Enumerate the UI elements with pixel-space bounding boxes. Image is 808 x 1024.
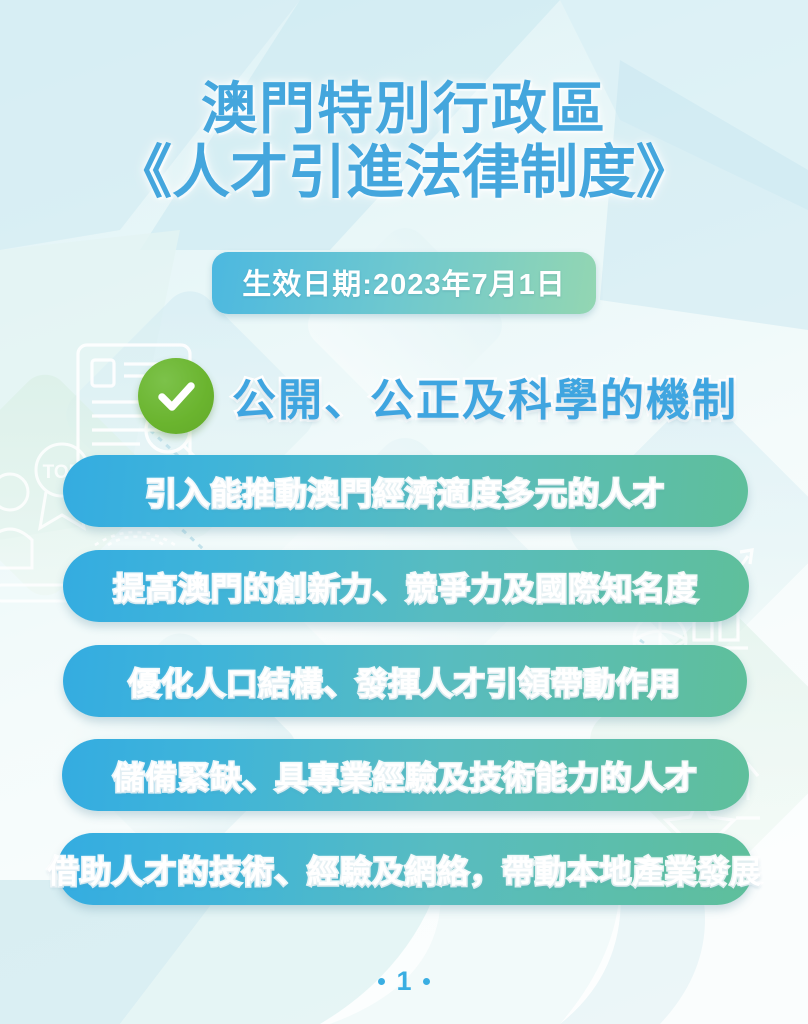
point-pill-label: 儲備緊缺、具專業經驗及技術能力的人才 [113,753,698,798]
point-pill-label: 引入能推動澳門經濟適度多元的人才 [146,469,666,514]
title-line-1: 澳門特別行政區 [0,78,808,141]
point-pill: 儲備緊缺、具專業經驗及技術能力的人才 [62,739,749,811]
section-heading: 公開、公正及科學的機制 [138,358,738,434]
title-line-2: 《人才引進法律制度》 [0,141,808,206]
point-pill: 借助人才的技術、經驗及網絡，帶動本地產業發展 [57,833,753,905]
footer-dot-left-icon [378,978,385,985]
footer-dot-right-icon [423,978,430,985]
point-pill-label: 提高澳門的創新力、競爭力及國際知名度 [114,564,699,609]
point-pill: 提高澳門的創新力、競爭力及國際知名度 [63,550,749,622]
page-title: 澳門特別行政區 《人才引進法律制度》 [0,78,808,206]
effective-date-badge: 生效日期:2023年7月1日 [212,252,595,314]
effective-date-badge-wrap: 生效日期:2023年7月1日 [0,252,808,314]
point-pill-label: 優化人口結構、發揮人才引領帶動作用 [129,659,682,704]
point-pill-label: 借助人才的技術、經驗及網絡，帶動本地產業發展 [48,847,763,892]
footer-page-indicator: 1 [0,968,808,995]
footer-page-number: 1 [396,968,411,995]
check-circle-icon [138,358,214,434]
point-pill: 優化人口結構、發揮人才引領帶動作用 [63,645,747,717]
point-pill: 引入能推動澳門經濟適度多元的人才 [63,455,748,527]
section-heading-label: 公開、公正及科學的機制 [232,364,738,428]
infographic-poster: TOP [0,0,808,1024]
